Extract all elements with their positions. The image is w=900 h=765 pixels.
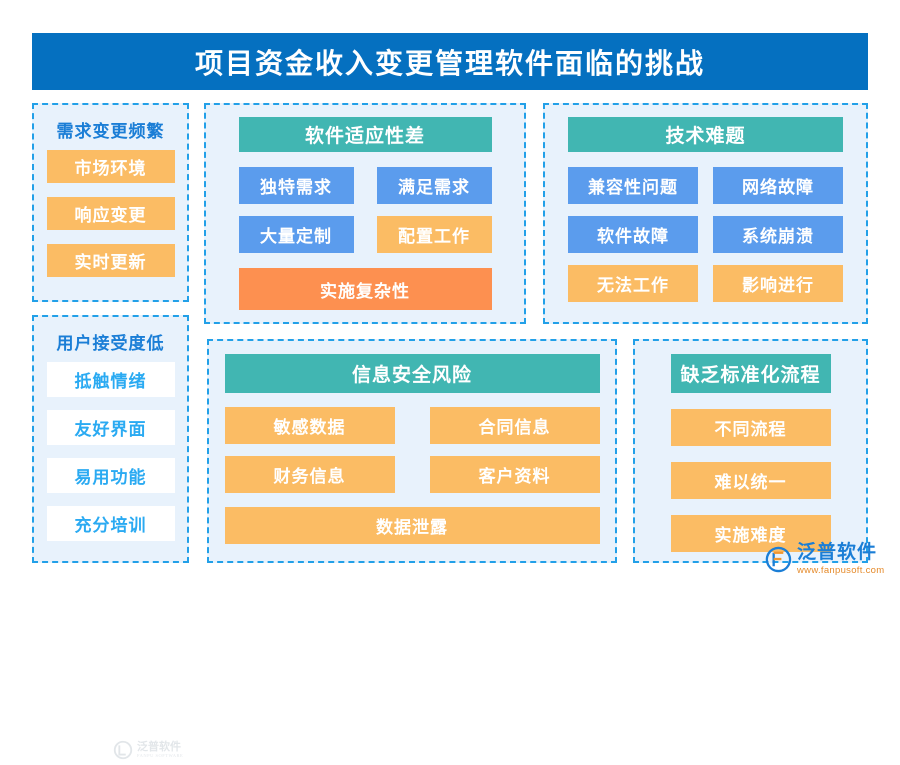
watermark-logo-icon <box>112 739 134 761</box>
watermark-text-wrap: 泛普软件 FANPU SOFTWARE <box>137 742 183 759</box>
page-title: 项目资金收入变更管理软件面临的挑战 <box>32 33 868 90</box>
fanpu-logo-icon <box>765 546 792 573</box>
chip-financial-information[interactable]: 财务信息 <box>225 456 395 493</box>
panel-heading-software-adaptability: 软件适应性差 <box>239 117 492 152</box>
panel-heading-user-acceptance: 用户接受度低 <box>57 329 165 354</box>
panel-information-security: 信息安全风险 敏感数据 合同信息 财务信息 客户资料 数据泄露 <box>207 339 617 563</box>
chip-easy-to-use[interactable]: 易用功能 <box>47 458 175 493</box>
logo-name: 泛普软件 <box>797 543 884 563</box>
panel-user-acceptance: 用户接受度低 抵触情绪 友好界面 易用功能 充分培训 泛普软件 FANPU SO… <box>32 315 189 563</box>
chip-unable-to-work[interactable]: 无法工作 <box>568 265 698 302</box>
chip-stack: 市场环境 响应变更 实时更新 <box>34 150 187 291</box>
chip-implementation-complexity[interactable]: 实施复杂性 <box>239 268 492 310</box>
chip-different-processes[interactable]: 不同流程 <box>671 409 831 446</box>
chip-affects-progress[interactable]: 影响进行 <box>713 265 843 302</box>
panel-heading-technical-difficulties: 技术难题 <box>568 117 843 152</box>
chip-compatibility-issue[interactable]: 兼容性问题 <box>568 167 698 204</box>
chip-grid: 独特需求 满足需求 大量定制 配置工作 <box>239 167 492 253</box>
chip-data-leakage[interactable]: 数据泄露 <box>225 507 600 544</box>
brand-logo: 泛普软件 www.fanpusoft.com <box>765 543 884 576</box>
chip-system-crash[interactable]: 系统崩溃 <box>713 216 843 253</box>
watermark-small: 泛普软件 FANPU SOFTWARE <box>112 735 222 765</box>
chip-adequate-training[interactable]: 充分培训 <box>47 506 175 541</box>
panel-heading-information-security: 信息安全风险 <box>225 354 600 393</box>
watermark-name: 泛普软件 <box>137 742 183 754</box>
panel-software-adaptability: 软件适应性差 独特需求 满足需求 大量定制 配置工作 实施复杂性 <box>204 103 526 324</box>
chip-stack: 抵触情绪 友好界面 易用功能 充分培训 <box>34 362 187 554</box>
logo-text-wrap: 泛普软件 www.fanpusoft.com <box>797 543 884 576</box>
chip-configuration-work[interactable]: 配置工作 <box>377 216 492 253</box>
chip-sensitive-data[interactable]: 敏感数据 <box>225 407 395 444</box>
chip-unique-requirements[interactable]: 独特需求 <box>239 167 354 204</box>
chip-software-failure[interactable]: 软件故障 <box>568 216 698 253</box>
chip-grid: 兼容性问题 网络故障 软件故障 系统崩溃 无法工作 影响进行 <box>568 167 843 302</box>
chip-heavy-customization[interactable]: 大量定制 <box>239 216 354 253</box>
chip-market-environment[interactable]: 市场环境 <box>47 150 175 183</box>
chip-friendly-interface[interactable]: 友好界面 <box>47 410 175 445</box>
logo-mark-icon <box>765 546 792 573</box>
chip-contract-information[interactable]: 合同信息 <box>430 407 600 444</box>
panel-heading-requirement-changes: 需求变更频繁 <box>57 117 165 142</box>
chip-customer-data[interactable]: 客户资料 <box>430 456 600 493</box>
chip-respond-change[interactable]: 响应变更 <box>47 197 175 230</box>
chip-realtime-update[interactable]: 实时更新 <box>47 244 175 277</box>
watermark-subtitle: FANPU SOFTWARE <box>137 753 183 758</box>
chip-resistance[interactable]: 抵触情绪 <box>47 362 175 397</box>
logo-url: www.fanpusoft.com <box>797 565 884 576</box>
panel-lack-of-standard-process: 缺乏标准化流程 不同流程 难以统一 实施难度 <box>633 339 868 563</box>
panel-requirement-changes: 需求变更频繁 市场环境 响应变更 实时更新 <box>32 103 189 302</box>
chip-meet-requirements[interactable]: 满足需求 <box>377 167 492 204</box>
chip-grid: 敏感数据 合同信息 财务信息 客户资料 <box>225 407 600 493</box>
chip-hard-to-unify[interactable]: 难以统一 <box>671 462 831 499</box>
chip-network-failure[interactable]: 网络故障 <box>713 167 843 204</box>
panel-heading-lack-of-standard-process: 缺乏标准化流程 <box>671 354 831 393</box>
panel-technical-difficulties: 技术难题 兼容性问题 网络故障 软件故障 系统崩溃 无法工作 影响进行 <box>543 103 868 324</box>
infographic-canvas: 项目资金收入变更管理软件面临的挑战 需求变更频繁 市场环境 响应变更 实时更新 … <box>0 0 900 600</box>
